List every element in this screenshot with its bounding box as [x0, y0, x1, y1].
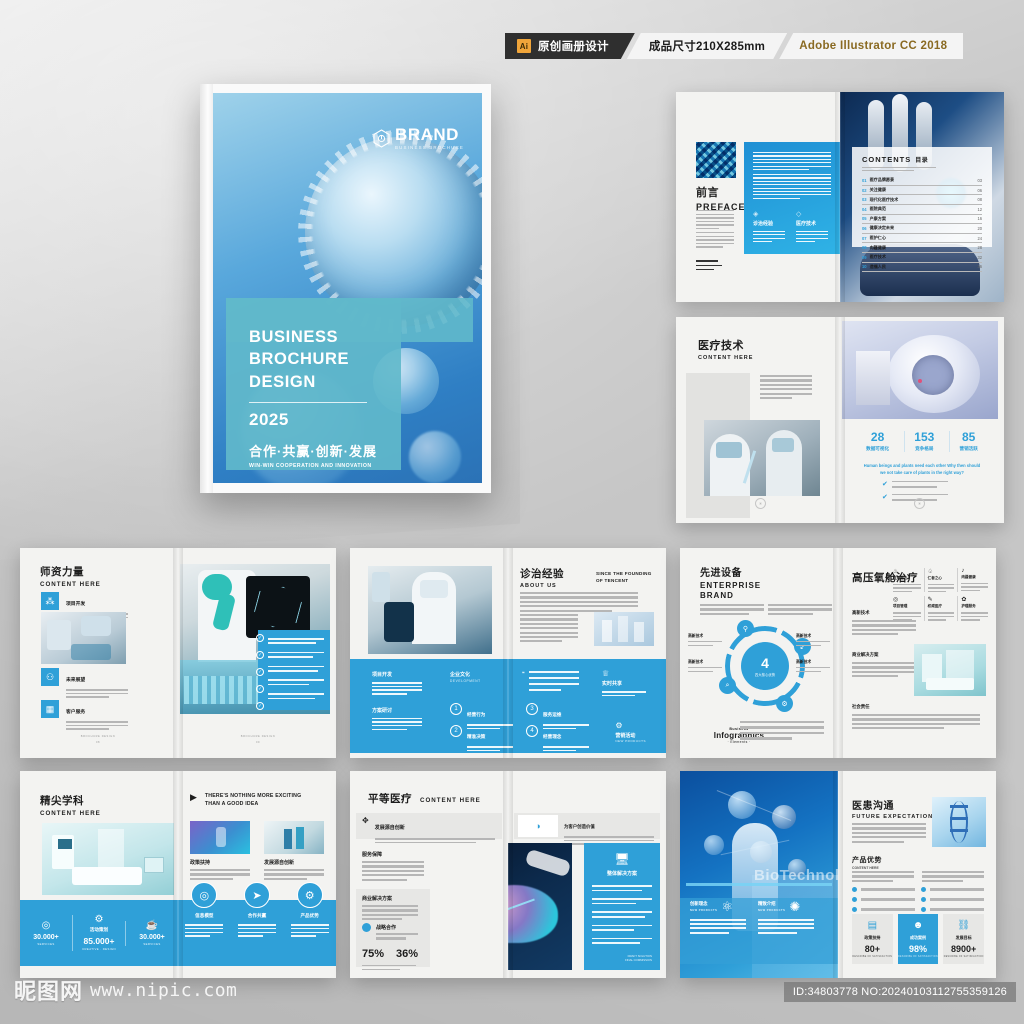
contents-row-no: 08: [862, 245, 867, 250]
medtech-stat-label: 数据可视化: [866, 446, 889, 452]
target-icon: ◎: [191, 882, 217, 908]
disc-page-right: ▶ THERE'S NOTHING MORE EXCITING THAN A G…: [178, 771, 336, 978]
disc-stat-icon: ⚙: [73, 915, 125, 925]
contents-row-page: 16: [977, 216, 982, 221]
disc-stat-label: SERVICES: [126, 942, 178, 946]
about-blue-band: 项目开发 方案研讨 企业文化 DEVELOPMENT 1经营行为2精准决策3服务…: [350, 659, 666, 753]
disc-stat-icon: ☕: [126, 921, 178, 931]
contents-row-label: 医护仁心: [870, 235, 975, 241]
cover-artwork: BRAND BUSINESS BROCHURE BUSINESS BROCHUR…: [213, 93, 482, 483]
equal-page-left: 平等医疗 CONTENT HERE ✥ 发展源自创新 服务保障 商业解决方案 战…: [350, 771, 508, 978]
contents-row-page: 32: [977, 255, 982, 260]
comm-left-item[interactable]: 精致介绍NEW PRODUCTS✺: [758, 900, 818, 934]
preface-page-right: CONTENTS 目录 01医疗品牌愿景0302关注健康0603现代化医疗技术0…: [840, 92, 1004, 302]
comm-item-label: 精致介绍NEW PRODUCTS: [758, 901, 785, 912]
equal-title-en: CONTENT HERE: [420, 797, 481, 804]
about-tagline-line1: SINCE THE FOUNDING: [596, 570, 652, 577]
about-number-badge: 2: [450, 725, 462, 737]
equip-info-l3: · Elements ·: [704, 740, 774, 744]
cursor-icon: ➤: [244, 882, 270, 908]
equip-section: 社会责任: [852, 704, 980, 729]
cover-brand-sub: BUSINESS BROCHURE: [395, 145, 464, 150]
medtech-page-marker-right: ✳: [914, 498, 925, 509]
medtech-stat-value: 28: [866, 431, 889, 443]
preface-sub-a: 诊治经验: [753, 220, 785, 227]
disc-stat-label: SERVICES: [20, 942, 72, 946]
cover-spine: [200, 84, 213, 493]
equip-center-label: 四大核心优势: [755, 672, 775, 677]
equip-grid-icon: ♪: [961, 568, 988, 574]
profile-icon: ◑: [518, 815, 558, 837]
contents-row-page: 24: [977, 236, 982, 241]
trophy-icon: ♕: [602, 669, 646, 678]
about-title-en: ABOUT US: [520, 583, 564, 589]
equip-grid-cell[interactable]: ✎权威医疗: [924, 596, 955, 620]
spread-about-us: 诊治经验 ABOUT US SINCE THE FOUNDING OF TENC…: [350, 548, 666, 758]
cover-brand: BRAND BUSINESS BROCHURE: [373, 126, 464, 150]
ribbon-tag-original: Ai 原创画册设计: [505, 33, 635, 59]
check-circle-icon: ✓: [256, 634, 264, 642]
about-badge-b-title: 营销活动: [615, 732, 646, 739]
brochure-cover: BRAND BUSINESS BROCHURE BUSINESS BROCHUR…: [200, 84, 491, 493]
comm-stat-label-cn: 政策扶持: [852, 935, 893, 941]
equal-blue-panel: 🖥 整体解决方案 DRAFT SOLUTION FINAL COMMISSION: [584, 843, 660, 970]
ribbon-tag1-label: 原创画册设计: [538, 38, 609, 54]
faculty-page-right: ✓ ✓ ✓ ✓ ✓ BROCHURE DESIGN 09: [178, 548, 336, 758]
disc-stat: ◎30.000+SERVICES: [20, 921, 72, 946]
contents-row-no: 07: [862, 236, 867, 241]
about-title-cn: 诊治经验: [520, 566, 564, 581]
faculty-pageno-left: 08: [58, 741, 138, 744]
faculty-pageno-right: 09: [218, 741, 298, 744]
medtech-page-right: 28数据可视化153竞争格局85营销活跃 Human beings and pl…: [840, 317, 1004, 523]
disc-stat: ☕30.000+SERVICES: [125, 921, 178, 946]
disc-photo-dna: [190, 821, 250, 854]
about-numbered-label: 经营理念: [543, 734, 561, 739]
comm-item-label: 创新理念NEW PRODUCTS: [690, 901, 717, 912]
comm-page-left: BioTechnology 创新理念NEW PRODUCTS⚛精致介绍NEW P…: [680, 771, 838, 978]
equal-title-cn: 平等医疗: [368, 791, 412, 806]
bullet-dot-icon: [852, 907, 857, 912]
medtech-stat-value: 153: [914, 431, 934, 443]
contents-row[interactable]: 01医疗品牌愿景03: [862, 176, 982, 186]
comm-stat-card[interactable]: ☻成功案例98%DESCRIBE OF SATISFACTION: [898, 914, 939, 964]
faculty-item[interactable]: ⚇未来展望: [41, 668, 128, 698]
bullet-dot-icon: [852, 897, 857, 902]
equip-node-label: 高新技术: [796, 634, 830, 639]
equip-title-cn: 先进设备: [700, 564, 761, 579]
check-circle-icon: ✓: [256, 668, 264, 676]
comm-stat-value: 8900+: [943, 944, 984, 954]
contents-title-en: CONTENTS: [862, 155, 911, 164]
quote-icon: ❝: [522, 671, 525, 691]
medtech-photo-ctscan: [842, 321, 998, 419]
check-icon: ✔: [882, 481, 888, 488]
disc-circle-item[interactable]: ⚙产品优势: [288, 882, 332, 966]
comm-stat-label-cn: 发展目标: [943, 935, 984, 941]
medtech-page-left: 医疗技术 CONTENT HERE ✳: [676, 317, 840, 523]
check-circle-icon: ✓: [256, 685, 264, 693]
equip-grid-cell[interactable]: ♤仁者之心: [924, 568, 955, 592]
monitor-icon: 🖥: [592, 853, 652, 865]
preface-title-cn: 前言: [696, 184, 746, 200]
comm-sec-sub: CONTENT HERE: [852, 866, 882, 870]
equal-top-b: 为客户创造价值: [564, 824, 595, 829]
spread-preface: 前言 PREFACE ◈: [676, 92, 1004, 302]
disc-circle-item[interactable]: ➤合作共赢: [235, 882, 279, 966]
comm-stat-cards: ▤政策扶持80+DESCRIBE OF SATISFACTION☻成功案例98%…: [852, 914, 984, 964]
equal-page-right: ◑ 为客户创造价值 🖥 整体解决方案 DRAFT SOLUTION FINAL: [508, 771, 666, 978]
disc-stat-label: CREATIVE · DESIGN: [73, 947, 125, 951]
asset-id-label: ID:34803778 NO:20240103112755359126: [784, 982, 1016, 1002]
spread-faculty: 师资力量 CONTENT HERE ⁂项目开发⚇未来展望▦客户服务 BROCHU…: [20, 548, 336, 758]
about-photo-lab-blue: [594, 612, 654, 646]
equip-node-label: 高新技术: [796, 660, 830, 665]
contents-row-no: 03: [862, 197, 867, 202]
play-icon: ▶: [190, 793, 197, 802]
equip-photo-ward: [914, 644, 986, 696]
disc-stat-value: 30.000+: [126, 934, 178, 941]
equip-node: 高新技术: [796, 660, 830, 672]
users-icon: ⚇: [41, 668, 59, 686]
disc-quote-line1: THERE'S NOTHING MORE EXCITING: [205, 793, 301, 799]
contents-row-label: 医院典范: [870, 206, 975, 212]
equip-node-label: 高新技术: [688, 660, 722, 665]
contents-row-label: 关注健康: [870, 187, 975, 193]
comm-photo-dna: [932, 797, 986, 847]
equip-grid-icon: ✎: [928, 596, 955, 603]
medtech-caption-line1: Human beings and plants need each other …: [858, 463, 986, 470]
faculty-page-left: 师资力量 CONTENT HERE ⁂项目开发⚇未来展望▦客户服务 BROCHU…: [20, 548, 178, 758]
contents-row-label: 肉疆健康: [870, 245, 975, 251]
hexagon-logo-icon: [373, 129, 390, 148]
disc-page-left: 精尖学科 CONTENT HERE ◎30.000+SERVICES⚙活动策划8…: [20, 771, 178, 978]
equip-title-en1: ENTERPRISE: [700, 581, 761, 590]
spread-communication: BioTechnology 创新理念NEW PRODUCTS⚛精致介绍NEW P…: [680, 771, 996, 978]
equip-grid-label: 权威医疗: [928, 604, 955, 609]
contents-row-no: 10: [862, 264, 867, 269]
equip-page-left: 先进设备 ENTERPRISE BRAND 4 四大核心优势 ⚲ ↙ ⌕ ⚙ 高…: [680, 548, 838, 758]
share-icon: ⁂: [41, 592, 59, 610]
faculty-foot-right: BROCHURE DESIGN: [218, 735, 298, 738]
contents-row-no: 06: [862, 226, 867, 231]
disc-photo-ward: [42, 823, 174, 895]
comm-stat-card[interactable]: ⛓发展目标8900+DESCRIBE OF SATISFACTION: [943, 914, 984, 964]
comm-left-item-list: 创新理念NEW PRODUCTS⚛精致介绍NEW PRODUCTS✺: [680, 886, 838, 964]
search-icon: ⌕: [719, 677, 736, 694]
disc-circle-label: 合作共赢: [235, 913, 279, 919]
comm-stat-icon: ⛓: [943, 921, 984, 931]
contents-row[interactable]: 03现代化医疗技术08: [862, 195, 982, 205]
comm-stat-card[interactable]: ▤政策扶持80+DESCRIBE OF SATISFACTION: [852, 914, 893, 964]
contents-row-page: 03: [977, 178, 982, 183]
contents-row-no: 05: [862, 216, 867, 221]
equip-grid-cell[interactable]: ♪肉疆健康: [957, 568, 988, 592]
preface-sub-b: 医疗技术: [796, 220, 828, 227]
contents-card: CONTENTS 目录 01医疗品牌愿景0302关注健康0603现代化医疗技术0…: [852, 147, 992, 247]
equip-section-label: 高新技术: [852, 610, 916, 616]
disc-stat-cn: 活动策划: [73, 927, 125, 933]
check-circle-icon: ✓: [256, 651, 264, 659]
contents-row-label: 造福人民: [870, 264, 975, 270]
settings-icon: ⚙: [297, 882, 323, 908]
equal-sec-c: 战略合作: [376, 924, 396, 931]
medtech-caption-line2: we not take care of plants in the right …: [858, 470, 986, 477]
about-col-b-sub: DEVELOPMENT: [450, 679, 481, 683]
medtech-photo-doctors: [704, 420, 820, 496]
about-numbered-label: 服务运维: [543, 712, 561, 717]
faculty-item-label: 未来展望: [66, 678, 85, 683]
check-icon: ✔: [882, 494, 888, 501]
equal-panel-foot2: FINAL COMMISSION: [625, 958, 652, 962]
contents-row-no: 04: [862, 207, 867, 212]
equip-node: 高新技术: [796, 634, 830, 646]
contents-row-no: 01: [862, 178, 867, 183]
about-col-a1: 项目开发: [372, 671, 422, 678]
medtech-title-cn: 医疗技术: [698, 337, 753, 353]
cover-title-line2: BROCHURE: [249, 350, 349, 368]
ribbon-tag-software: Adobe Illustrator CC 2018: [779, 33, 963, 59]
comm-title-en: FUTURE EXPECTATION: [852, 814, 933, 820]
disc-stat-value: 85.000+: [73, 936, 125, 946]
bullet-dot-icon: [921, 907, 926, 912]
cover-divider: [249, 402, 367, 403]
equip-grid-label: 护理服务: [961, 604, 988, 609]
contents-row-no: 09: [862, 255, 867, 260]
chart-icon: ▦: [41, 700, 59, 718]
equal-photo-brain: [508, 843, 572, 970]
contents-row-no: 02: [862, 188, 867, 193]
comm-stat-label-en: DESCRIBE OF SATISFACTION: [852, 956, 893, 958]
comm-stat-value: 80+: [852, 944, 893, 954]
equip-node: 高新技术: [688, 660, 722, 672]
contents-row-label: 产康方案: [870, 216, 975, 222]
about-numbered-label: 经营行为: [467, 712, 485, 717]
faculty-check-bullets: ✓ ✓ ✓ ✓ ✓: [256, 634, 264, 710]
about-numbered-label: 精准决策: [467, 734, 485, 739]
equip-section-label: 商业解决方案: [852, 652, 916, 658]
medtech-stat-label: 竞争格局: [914, 446, 934, 452]
equal-pct-b: 36%: [396, 948, 418, 960]
equal-sec-a: 服务保障: [362, 851, 382, 858]
preface-texture-image: [696, 142, 736, 178]
preface-blue-panel: ◈ 诊治经验 ◇ 医疗技术: [744, 142, 840, 254]
equip-section: 高新技术: [852, 610, 916, 635]
cover-slogan-cn: 合作·共赢·创新·发展: [249, 441, 401, 460]
faculty-blue-checklist: [258, 630, 330, 710]
disc-stats-band: ◎30.000+SERVICES⚙活动策划85.000+CREATIVE · D…: [20, 900, 178, 966]
comm-stat-label-en: DESCRIBE OF SATISFACTION: [943, 956, 984, 958]
spread-discipline: 精尖学科 CONTENT HERE ◎30.000+SERVICES⚙活动策划8…: [20, 771, 336, 978]
equip-page-right: 高压氧舱治疗 ♨医用能力♤仁者之心♪肉疆健康◎项目管理✎权威医疗✿护理服务 高新…: [838, 548, 996, 758]
medtech-stat-value: 85: [959, 431, 977, 443]
about-col-b-title: 企业文化: [450, 671, 481, 678]
comm-stat-label-cn: 成功案例: [898, 935, 939, 941]
equip-grid-label: 仁者之心: [928, 576, 955, 581]
contents-row-page: 06: [977, 188, 982, 193]
spec-ribbon: Ai 原创画册设计 成品尺寸210X285mm Adobe Illustrato…: [505, 33, 963, 59]
about-col-a2: 方案研讨: [372, 707, 422, 714]
disc-title-en: CONTENT HERE: [40, 810, 101, 817]
contents-row[interactable]: 05产康方案16: [862, 215, 982, 225]
disc-circle-item[interactable]: ◎信息模型: [182, 882, 226, 966]
bullet-dot-icon: [921, 897, 926, 902]
equip-grid-icon: ✿: [961, 596, 988, 603]
disc-mini-b: 发展源自创新: [264, 859, 324, 866]
equal-panel-title: 整体解决方案: [592, 870, 652, 877]
molecule-icon: ⚛: [721, 900, 733, 913]
equal-sec-b: 商业解决方案: [362, 895, 392, 902]
contents-row-page: 12: [977, 207, 982, 212]
contents-row-page: 28: [977, 245, 982, 250]
comm-sec-title: 产品优势: [852, 855, 882, 865]
medtech-stat: 28数据可视化: [857, 431, 898, 452]
contents-row[interactable]: 08肉疆健康28: [862, 243, 982, 253]
about-tagline-line2: OF TENCENT: [596, 577, 652, 584]
faculty-item-label: 项目开发: [66, 602, 85, 607]
comm-stat-value: 98%: [898, 944, 939, 954]
comm-title-cn: 医患沟通: [852, 797, 933, 812]
equip-circular-infographic: 4 四大核心优势 ⚲ ↙ ⌕ ⚙: [725, 626, 805, 706]
contents-row-label: 医疗技术: [870, 254, 975, 260]
equip-grid-icon: ◎: [893, 596, 921, 603]
equip-grid-label: 医用能力: [893, 576, 921, 581]
equip-node-label: 高新技术: [688, 634, 722, 639]
about-number-badge: 3: [526, 703, 538, 715]
disc-circle-label: 信息模型: [182, 913, 226, 919]
bullet-dot-icon: [852, 887, 857, 892]
equip-grid-icon: ♨: [893, 568, 921, 575]
faculty-title-en: CONTENT HERE: [40, 581, 101, 588]
equip-grid-label: 项目管理: [893, 604, 921, 609]
equip-grid-cell[interactable]: ✿护理服务: [957, 596, 988, 620]
disc-stats-list: ◎30.000+SERVICES⚙活动策划85.000+CREATIVE · D…: [20, 900, 178, 966]
contents-title-cn: 目录: [915, 155, 928, 164]
equip-center-number: 4: [761, 656, 769, 670]
contents-row-page: 36: [977, 264, 982, 269]
site-logo: 昵图网: [14, 974, 83, 1006]
comm-stat-icon: ☻: [898, 921, 939, 931]
comm-stat-label-en: DESCRIBE OF SATISFACTION: [898, 956, 939, 958]
contents-row-page: 20: [977, 226, 982, 231]
spread-equal-care: 平等医疗 CONTENT HERE ✥ 发展源自创新 服务保障 商业解决方案 战…: [350, 771, 666, 978]
contents-row-label: 现代化医疗技术: [870, 197, 975, 203]
comm-left-item[interactable]: 创新理念NEW PRODUCTS⚛: [690, 900, 750, 934]
globe-icon: ⚙: [615, 721, 646, 730]
check-circle-icon: ✓: [256, 702, 264, 710]
contents-row-page: 08: [977, 197, 982, 202]
cover-brand-name: BRAND: [395, 126, 464, 143]
gear-icon: ⚙: [776, 695, 793, 712]
cover-year: 2025: [249, 410, 401, 430]
equip-section-label: 社会责任: [852, 704, 980, 710]
contents-row[interactable]: 09医疗技术32: [862, 253, 982, 263]
preface-page-left: 前言 PREFACE ◈: [676, 92, 840, 302]
cover-title-line3: DESIGN: [249, 373, 316, 391]
disc-circle-list: ◎信息模型➤合作共赢⚙产品优势: [178, 882, 336, 966]
spread-equipment: 先进设备 ENTERPRISE BRAND 4 四大核心优势 ⚲ ↙ ⌕ ⚙ 高…: [680, 548, 996, 758]
medtech-stats: 28数据可视化153竞争格局85营销活跃: [854, 431, 990, 452]
contents-row-label: 医疗品牌愿景: [870, 177, 975, 183]
bulb-icon: ⚲: [737, 620, 754, 637]
about-number-badge: 4: [526, 725, 538, 737]
faculty-foot-left: BROCHURE DESIGN: [58, 735, 138, 738]
disc-stat-value: 30.000+: [20, 934, 72, 941]
cover-title-line1: BUSINESS: [249, 328, 338, 346]
medtech-title-en: CONTENT HERE: [698, 355, 753, 361]
disc-title-cn: 精尖学科: [40, 793, 101, 808]
contents-row[interactable]: 10造福人民36: [862, 263, 982, 273]
equip-node: 高新技术: [688, 634, 722, 646]
molecule-icon: ✺: [789, 900, 800, 913]
spread-medical-technology: 医疗技术 CONTENT HERE ✳ 28数据可视化153竞争格局85营销活跃…: [676, 317, 1004, 523]
disc-circle-label: 产品优势: [288, 913, 332, 919]
contents-list: 01医疗品牌愿景0302关注健康0603现代化医疗技术0804医院典范1205产…: [862, 176, 982, 272]
contents-row[interactable]: 06健康决定未来20: [862, 224, 982, 234]
equip-grid-label: 肉疆健康: [961, 575, 988, 580]
innovation-icon: ✥: [362, 816, 369, 825]
about-numbered-item[interactable]: 2精准决策: [450, 725, 513, 751]
faculty-photo-lab: [41, 612, 126, 664]
comm-page-right: 医患沟通 FUTURE EXPECTATION 产品优势 CONTENT HER…: [838, 771, 996, 978]
equip-grid-cell[interactable]: ♨医用能力: [890, 568, 921, 592]
disc-quote-line2: THAN A GOOD IDEA: [205, 801, 259, 807]
contents-row[interactable]: 04医院典范12: [862, 205, 982, 215]
equal-top-a: 发展源自创新: [375, 825, 405, 831]
contents-row[interactable]: 07医护仁心24: [862, 234, 982, 244]
disc-stat: ⚙活动策划85.000+CREATIVE · DESIGN: [72, 915, 125, 951]
cover-title-panel: BUSINESS BROCHURE DESIGN 2025 合作·共赢·创新·发…: [226, 298, 401, 470]
medtech-stat: 153竞争格局: [904, 431, 943, 452]
contents-row-label: 健康决定未来: [870, 225, 975, 231]
about-badge-a-title: 实时共享: [602, 680, 646, 687]
bullet-dot-icon: [921, 887, 926, 892]
faculty-title-cn: 师资力量: [40, 564, 101, 579]
equip-section: 商业解决方案: [852, 652, 916, 677]
about-photo-microscope: [368, 566, 492, 654]
faculty-item[interactable]: ▦客户服务: [41, 700, 128, 730]
about-badge-b-sub: NEW PRODUCTS: [615, 739, 646, 743]
virus-graphic-tiny: [409, 431, 461, 483]
preface-signature-rule: [696, 260, 718, 262]
ribbon-tag-size: 成品尺寸210X285mm: [627, 33, 787, 59]
contents-row[interactable]: 02关注健康06: [862, 186, 982, 196]
medtech-stat-label: 营销活跃: [959, 446, 977, 452]
equal-pct-a: 75%: [362, 948, 384, 960]
site-watermark: 昵图网 www.nipic.com: [14, 974, 237, 1006]
medtech-page-marker-left: ✳: [755, 498, 766, 509]
medtech-stat: 85营销活跃: [949, 431, 986, 452]
site-url: www.nipic.com: [90, 980, 237, 1001]
faculty-item-label: 客户服务: [66, 710, 85, 715]
disc-stat-icon: ◎: [20, 921, 72, 931]
bullet-dot-icon: [362, 923, 371, 932]
equip-title-en2: BRAND: [700, 591, 734, 600]
disc-photo-corridor: [264, 821, 324, 854]
about-number-badge: 1: [450, 703, 462, 715]
comm-overlay-title: BioTechnology: [754, 867, 838, 884]
illustrator-icon: Ai: [517, 39, 531, 53]
comm-stat-icon: ▤: [852, 921, 893, 931]
equip-grid-icon: ♤: [928, 568, 955, 575]
disc-mini-a: 政策扶持: [190, 859, 210, 866]
cover-slogan-en: WIN-WIN COOPERATION AND INNOVATION: [249, 463, 401, 469]
about-numbered-item[interactable]: 4经营理念: [526, 725, 589, 751]
